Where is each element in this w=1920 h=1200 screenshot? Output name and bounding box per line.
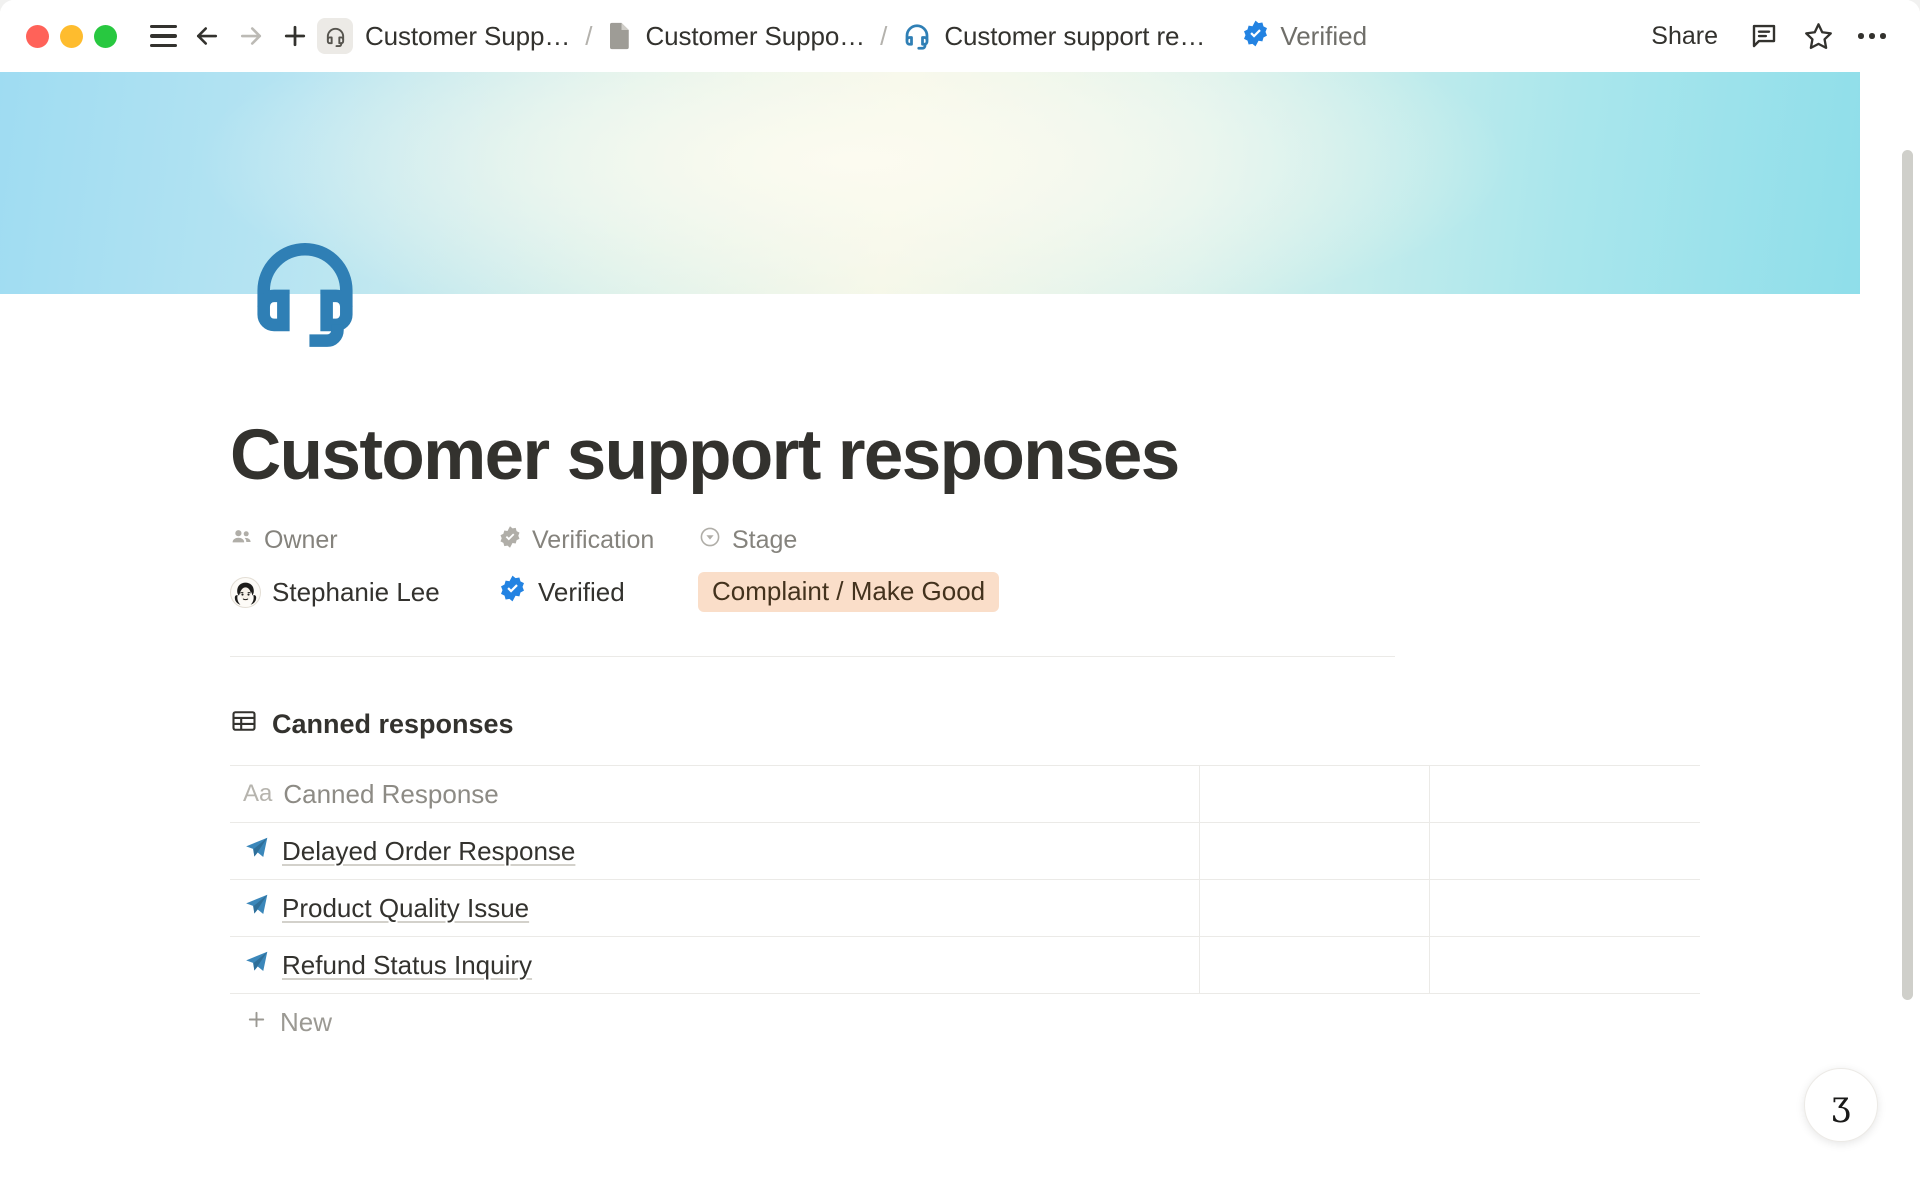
table-cell-3[interactable] [1430, 823, 1700, 879]
database-title-text: Canned responses [272, 709, 514, 740]
table-row-link[interactable]: Refund Status Inquiry [282, 950, 532, 981]
breadcrumb-separator: / [585, 21, 592, 52]
star-icon[interactable] [1796, 14, 1840, 58]
table-header-cell-canned-response[interactable]: Aa Canned Response [230, 766, 1200, 822]
plus-icon[interactable] [273, 14, 317, 58]
table-cell-2[interactable] [1200, 937, 1430, 993]
paper-plane-icon [243, 892, 270, 924]
breadcrumb-item-2[interactable]: Customer Suppo… [607, 21, 865, 52]
verified-badge-icon [1241, 19, 1270, 53]
verified-badge-label: Verified [1280, 21, 1367, 52]
table-header-cell-3[interactable] [1430, 766, 1700, 822]
table-row[interactable]: Refund Status Inquiry [230, 936, 1700, 993]
breadcrumb-item-1[interactable]: Customer Supp… [317, 18, 570, 54]
table-row-link[interactable]: Delayed Order Response [282, 836, 575, 867]
breadcrumb-item-3[interactable]: Customer support re… [902, 21, 1205, 52]
breadcrumb-label-1: Customer Supp… [365, 21, 570, 52]
property-value-stage[interactable]: Complaint / Make Good [698, 572, 1390, 612]
page-properties: Owner Verification Sta [230, 525, 1390, 612]
status-badge: Complaint / Make Good [698, 572, 999, 612]
verified-badge-topbar[interactable]: Verified [1241, 19, 1367, 53]
breadcrumb-label-3: Customer support re… [944, 21, 1205, 52]
ai-assistant-button[interactable]: ʒ [1804, 1068, 1878, 1142]
aa-icon: Aa [243, 780, 272, 808]
traffic-lights [26, 25, 117, 48]
property-label-verification-text: Verification [532, 526, 654, 555]
headset-icon [317, 18, 353, 54]
table-cell-title[interactable]: Delayed Order Response [230, 823, 1200, 879]
add-new-row-label: New [280, 1007, 332, 1038]
table-cell-title[interactable]: Product Quality Issue [230, 880, 1200, 936]
share-button[interactable]: Share [1637, 14, 1732, 59]
breadcrumb-separator-2: / [880, 21, 887, 52]
table-cell-2[interactable] [1200, 880, 1430, 936]
property-value-owner[interactable]: Stephanie Lee [230, 572, 498, 612]
property-label-stage-text: Stage [732, 526, 797, 555]
avatar [230, 577, 261, 608]
property-value-verification-text: Verified [538, 577, 625, 608]
table-cell-3[interactable] [1430, 880, 1700, 936]
minimize-window-button[interactable] [60, 25, 83, 48]
hamburger-icon[interactable] [141, 14, 185, 58]
property-value-verification[interactable]: Verified [498, 572, 698, 612]
property-label-stage[interactable]: Stage [698, 525, 1390, 556]
more-horizontal-icon[interactable] [1850, 14, 1894, 58]
comment-icon[interactable] [1742, 14, 1786, 58]
verified-badge-icon [498, 574, 527, 610]
breadcrumb-label-2: Customer Suppo… [645, 21, 865, 52]
vertical-scrollbar[interactable] [1902, 150, 1913, 1000]
app-window: Customer Supp… / Customer Suppo… / [0, 0, 1920, 1200]
property-value-owner-text: Stephanie Lee [272, 577, 440, 608]
maximize-window-button[interactable] [94, 25, 117, 48]
arrow-left-icon[interactable] [185, 14, 229, 58]
table-icon [230, 707, 258, 742]
ai-assistant-icon: ʒ [1831, 1087, 1850, 1121]
close-window-button[interactable] [26, 25, 49, 48]
table-row[interactable]: Product Quality Issue [230, 879, 1700, 936]
paper-plane-icon [243, 835, 270, 867]
property-label-verification[interactable]: Verification [498, 525, 698, 556]
database-table: Aa Canned Response Delayed Orde [230, 765, 1700, 1050]
arrow-right-icon[interactable] [229, 14, 273, 58]
content-divider [230, 656, 1395, 657]
table-header-label: Canned Response [283, 779, 498, 810]
table-header-cell-2[interactable] [1200, 766, 1430, 822]
page-content: Customer support responses Owner [0, 294, 1920, 1050]
add-new-row-button[interactable]: New [230, 993, 1700, 1050]
document-icon [607, 21, 633, 51]
property-label-owner[interactable]: Owner [230, 525, 498, 556]
title-bar: Customer Supp… / Customer Suppo… / [0, 0, 1920, 72]
table-row-link[interactable]: Product Quality Issue [282, 893, 529, 924]
table-cell-2[interactable] [1200, 823, 1430, 879]
table-header-row: Aa Canned Response [230, 765, 1700, 822]
plus-icon [245, 1007, 268, 1038]
people-icon [230, 525, 254, 556]
select-chevron-icon [698, 525, 722, 556]
paper-plane-icon [243, 949, 270, 981]
table-cell-3[interactable] [1430, 937, 1700, 993]
title-bar-actions: Share [1637, 14, 1894, 59]
property-label-owner-text: Owner [264, 526, 338, 555]
table-row[interactable]: Delayed Order Response [230, 822, 1700, 879]
headset-icon [902, 21, 932, 51]
page-icon-headset-icon[interactable] [246, 232, 364, 350]
page-title[interactable]: Customer support responses [230, 294, 1920, 491]
table-cell-title[interactable]: Refund Status Inquiry [230, 937, 1200, 993]
database-title[interactable]: Canned responses [230, 707, 1920, 742]
verification-badge-icon [498, 525, 522, 556]
